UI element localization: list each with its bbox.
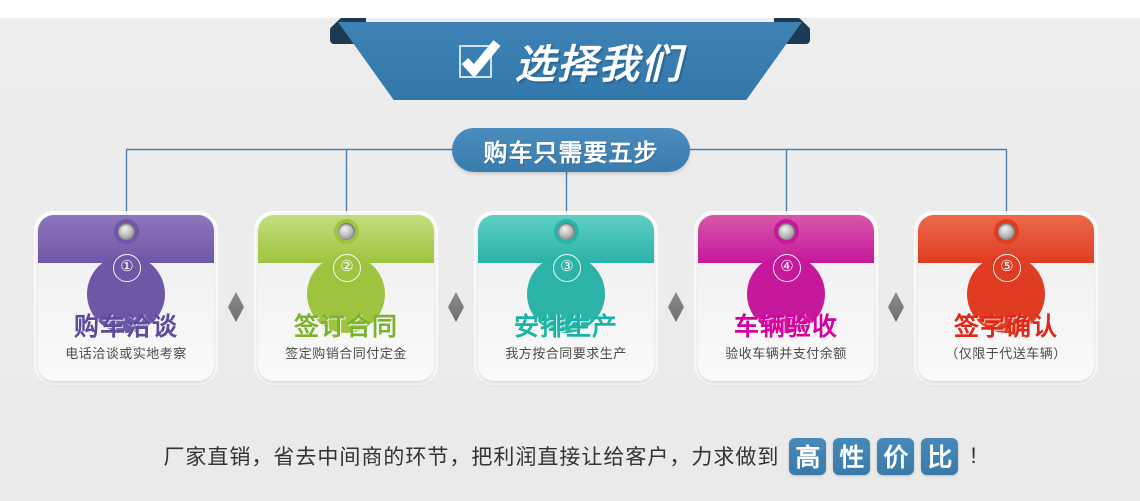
step-subtitle: 我方按合同要求生产 xyxy=(478,343,654,362)
grommet-icon xyxy=(778,223,795,240)
footer-tagline: 厂家直销，省去中间商的环节，把利润直接让给客户，力求做到 高 性 价 比 ! xyxy=(0,428,1140,484)
step-title: 安排生产 xyxy=(478,307,654,343)
step-card-3[interactable]: ③ 安排生产 我方按合同要求生产 xyxy=(478,215,654,381)
step-title: 签订合同 xyxy=(258,307,434,343)
grommet-icon xyxy=(118,223,135,240)
promo-infographic: 选择我们 购车只需要五步 ① 购车洽谈 电话洽谈或实地考察 ② 签订合同 签定购… xyxy=(0,0,1140,501)
step-subtitle: 验收车辆并支付余额 xyxy=(698,343,874,362)
steps-ribbon-label: 购车只需要五步 xyxy=(484,133,659,168)
step-number: ② xyxy=(333,254,361,282)
step-subtitle: 电话洽谈或实地考察 xyxy=(38,343,214,362)
step-title: 签字确认 xyxy=(918,307,1094,343)
step-card-2[interactable]: ② 签订合同 签定购销合同付定金 xyxy=(258,215,434,381)
grommet-icon xyxy=(338,223,355,240)
steps-row: ① 购车洽谈 电话洽谈或实地考察 ② 签订合同 签定购销合同付定金 ③ 安排生产… xyxy=(0,215,1140,385)
header-banner: 选择我们 xyxy=(330,8,810,104)
step-number: ③ xyxy=(553,254,581,282)
step-subtitle: （仅限于代送车辆） xyxy=(918,343,1094,362)
step-number: ④ xyxy=(773,254,801,282)
step-subtitle: 签定购销合同付定金 xyxy=(258,343,434,362)
highlight-char: 比 xyxy=(921,438,958,475)
highlight-char: 价 xyxy=(877,438,914,475)
tagline-exclamation: ! xyxy=(970,443,976,469)
banner-title: 选择我们 xyxy=(515,32,683,90)
step-number: ⑤ xyxy=(993,254,1021,282)
tagline-text: 厂家直销，省去中间商的环节，把利润直接让给客户，力求做到 xyxy=(163,441,779,471)
step-card-1[interactable]: ① 购车洽谈 电话洽谈或实地考察 xyxy=(38,215,214,381)
step-card-4[interactable]: ④ 车辆验收 验收车辆并支付余额 xyxy=(698,215,874,381)
step-title: 购车洽谈 xyxy=(38,307,214,343)
grommet-icon xyxy=(998,223,1015,240)
highlight-group: 高 性 价 比 xyxy=(789,438,958,475)
highlight-char: 高 xyxy=(789,438,826,475)
highlight-char: 性 xyxy=(833,438,870,475)
step-card-5[interactable]: ⑤ 签字确认 （仅限于代送车辆） xyxy=(918,215,1094,381)
checkbox-checked-icon xyxy=(457,40,499,82)
step-number: ① xyxy=(113,254,141,282)
steps-ribbon: 购车只需要五步 xyxy=(452,128,690,172)
step-title: 车辆验收 xyxy=(698,307,874,343)
grommet-icon xyxy=(558,223,575,240)
